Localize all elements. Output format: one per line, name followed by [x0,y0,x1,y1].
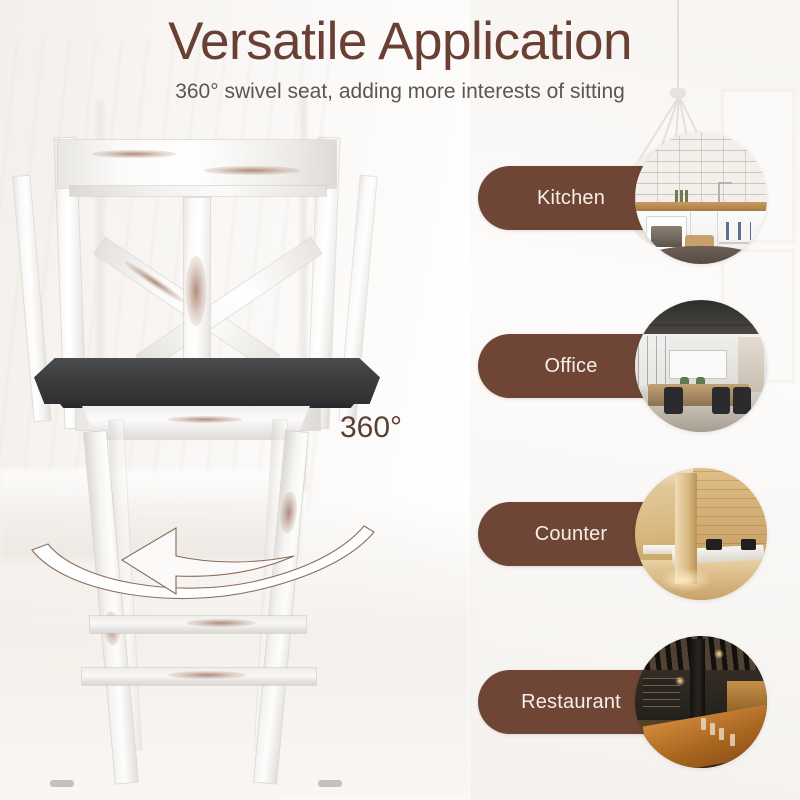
application-item-counter[interactable]: Counter [440,464,800,606]
application-list: Kitchen [440,128,800,788]
application-item-restaurant[interactable]: Restaurant [440,632,800,774]
chair-footrest-upper [90,616,306,633]
application-label: Counter [478,502,664,566]
application-item-office[interactable]: Office [440,296,800,438]
chair-upper-cross-rail [70,186,326,196]
swivel-degree-label: 360° [340,411,402,445]
application-label: Kitchen [478,166,664,230]
page-subtitle: 360° swivel seat, adding more interests … [0,80,800,104]
application-label: Restaurant [478,670,664,734]
chair-back-x-brace [137,238,322,371]
chair-top-rail [58,140,336,188]
chair-footrest-lower [82,668,316,685]
application-label: Office [478,334,664,398]
chair-foot-left [50,780,74,787]
chair-foot-right [318,780,342,787]
product-feature-image: Versatile Application 360° swivel seat, … [0,0,800,800]
page-title: Versatile Application [0,14,800,70]
swivel-bar-stool-illustration [18,120,438,790]
application-item-kitchen[interactable]: Kitchen [440,128,800,270]
swivel-rotation-arrow-icon [26,516,386,608]
